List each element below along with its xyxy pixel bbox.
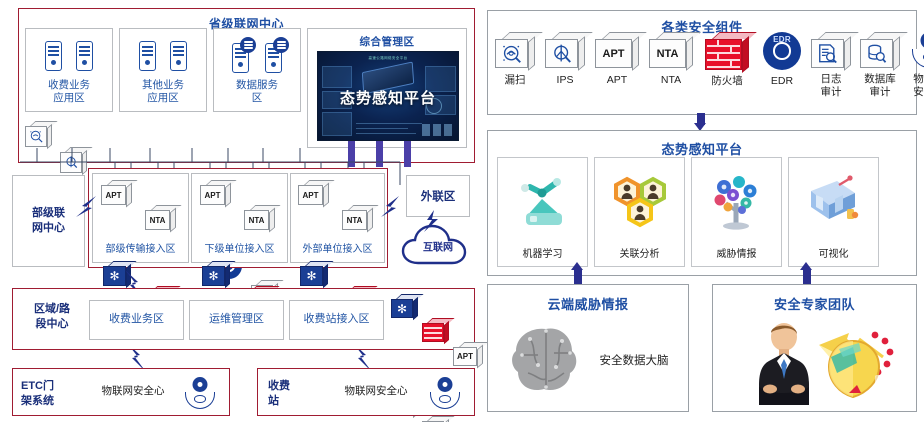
capability-label: 机器学习 (523, 245, 563, 266)
security-component-item[interactable]: 防火墙 (700, 32, 754, 88)
apt-label: APT (453, 347, 477, 366)
vuln-scan-glyph (501, 43, 523, 65)
zone-integrated-management[interactable]: 综合管理区 高速公路网络安全平台 态势感知平台 (307, 28, 467, 148)
security-component-item[interactable]: 日志 审计 (808, 32, 854, 98)
monitor-chart-icon (789, 158, 878, 245)
arrow-components-to-platform (694, 113, 707, 131)
etc-device-label: 物联网安全心 (83, 385, 183, 398)
cloud-intel-title: 云端威胁情报 (488, 294, 688, 313)
edr-icon: EDR (763, 32, 801, 70)
dashboard-bars (422, 124, 452, 136)
capability-label: 关联分析 (620, 245, 660, 266)
expert-person-icon (751, 319, 817, 405)
zone-other-business-app[interactable]: 其他业务 应用区 (119, 28, 207, 112)
db-audit-glyph (866, 43, 888, 65)
server-icon (265, 43, 282, 73)
expert-team-panel: 安全专家团队 (712, 284, 917, 412)
component-label-line1: APT (592, 74, 642, 87)
db-audit-icon (860, 32, 900, 68)
zone-label-line1: 其他业务 (120, 79, 206, 92)
security-component-item[interactable]: IPS (542, 32, 588, 87)
database-icon (240, 37, 256, 53)
dashboard-headline: 态势感知平台 (318, 87, 458, 108)
tree-nodes-icon (692, 158, 781, 245)
etc-site-label-line1: ETC门 (21, 379, 71, 394)
regional-zone-toll-business[interactable]: 收费业务区 (89, 300, 184, 340)
security-component-item[interactable]: EDR EDR (758, 32, 806, 88)
security-component-item[interactable]: 漏扫 (492, 32, 538, 87)
toll-site-label-line1: 收费 (268, 379, 314, 394)
vuln-scan-icon (495, 32, 535, 68)
iot-camera-icon[interactable] (185, 377, 215, 409)
zone-toll-business-app[interactable]: 收费业务 应用区 (25, 28, 113, 112)
management-zone-title: 综合管理区 (308, 34, 466, 49)
toll-site-label-line2: 站 (268, 394, 314, 409)
component-label-line1: 日志 (808, 73, 854, 86)
architecture-diagram: 省级联网中心 收费业务 应用区 (0, 0, 924, 422)
component-label-line1: 物联网 (906, 73, 924, 86)
capability-label: 可视化 (819, 245, 849, 266)
apt-face-label: APT (595, 39, 632, 68)
security-component-item[interactable]: 数据库 审计 (856, 32, 904, 98)
zone-label-line1: 收费业务 (26, 79, 112, 92)
component-label-line1: 数据库 (856, 73, 904, 86)
component-label-line2: 审计 (808, 86, 854, 99)
server-icon (45, 41, 62, 71)
component-label-line1: 漏扫 (492, 74, 538, 87)
cloud-intel-label: 安全数据大脑 (588, 355, 680, 369)
zone-label-line2: 区 (214, 92, 300, 105)
regional-center-label-line1: 区域/路 (21, 302, 83, 317)
regional-zone-label: 收费业务区 (109, 313, 164, 326)
server-icon (76, 41, 93, 71)
security-component-item[interactable]: APT APT (592, 32, 642, 87)
capability-correlation-analysis[interactable]: 关联分析 (594, 157, 685, 267)
toll-station-panel: 收费 站 物联网安全心 (257, 368, 475, 416)
component-label-line1: EDR (758, 75, 806, 88)
firewall-icon (705, 32, 749, 70)
security-component-item[interactable]: NTA NTA (646, 32, 696, 87)
firewall-icon[interactable] (422, 318, 449, 342)
cloud-intel-panel: 云端威胁情报 安全数据大脑 (487, 284, 689, 412)
situation-dashboard-screenshot[interactable]: 高速公路网络安全平台 态势感知平台 (317, 51, 459, 141)
situation-platform-title: 态势感知平台 (488, 139, 916, 158)
capability-visualization[interactable]: 可视化 (788, 157, 879, 267)
server-icon (139, 41, 156, 71)
arrow-expert-team-to-platform (800, 262, 813, 284)
nta-face-label: NTA (649, 39, 686, 68)
apt-icon[interactable]: APT (453, 342, 483, 366)
regional-zone-toll-station-access[interactable]: 收费站接入区 (289, 300, 384, 340)
hexagon-people-icon (595, 158, 684, 245)
ips-icon (545, 32, 585, 68)
arrow-cloud-intel-to-platform (571, 262, 584, 284)
log-audit-icon (811, 32, 851, 68)
zone-label-line1: 数据服务 (214, 79, 300, 92)
component-label-line2: 审计 (856, 86, 904, 99)
component-label-line1: 防火墙 (700, 75, 754, 88)
capability-machine-learning[interactable]: 机器学习 (497, 157, 588, 267)
etc-site-label-line2: 架系统 (21, 394, 71, 409)
regional-center-label-line2: 段中心 (21, 317, 83, 332)
capability-label: 威胁情报 (717, 245, 757, 266)
security-components-row: 漏扫 IPS (492, 32, 912, 112)
component-label-line2: 安全心 (906, 86, 924, 99)
robot-arm-icon (498, 158, 587, 245)
database-icon (273, 37, 289, 53)
log-audit-glyph (817, 43, 839, 65)
shield-award-icon (813, 323, 899, 403)
server-icon (170, 41, 187, 71)
security-component-item[interactable]: 物联网 安全心 (906, 32, 924, 98)
component-label-line1: IPS (542, 74, 588, 87)
nta-icon: NTA (649, 32, 693, 68)
edr-face-label: EDR (773, 35, 791, 44)
etc-gantry-panel: ETC门 架系统 物联网安全心 (12, 368, 230, 416)
iot-camera-icon (912, 32, 924, 68)
ips-icon[interactable]: ✻ (391, 294, 418, 318)
apt-icon: APT (595, 32, 639, 68)
capability-threat-intelligence[interactable]: 威胁情报 (691, 157, 782, 267)
toll-device-label: 物联网安全心 (326, 385, 426, 398)
regional-zone-label: 收费站接入区 (304, 313, 370, 326)
regional-zone-ops-management[interactable]: 运维管理区 (189, 300, 284, 340)
zone-label-line2: 应用区 (26, 92, 112, 105)
component-label-line1: NTA (646, 74, 696, 87)
dashboard-top-title: 高速公路网络安全平台 (318, 56, 458, 61)
ips-glyph (551, 43, 573, 65)
expert-team-title: 安全专家团队 (713, 294, 916, 313)
db-audit-icon[interactable] (422, 416, 449, 422)
server-icon (232, 43, 249, 73)
brain-icon (506, 323, 586, 397)
zone-data-service[interactable]: 数据服务 区 (213, 28, 301, 112)
iot-camera-icon[interactable] (430, 377, 460, 409)
zone-label-line2: 应用区 (120, 92, 206, 105)
regional-zone-label: 运维管理区 (209, 313, 264, 326)
regional-center-panel: 区域/路 段中心 收费业务区 运维管理区 收费站接入区 ✻ (12, 288, 475, 350)
